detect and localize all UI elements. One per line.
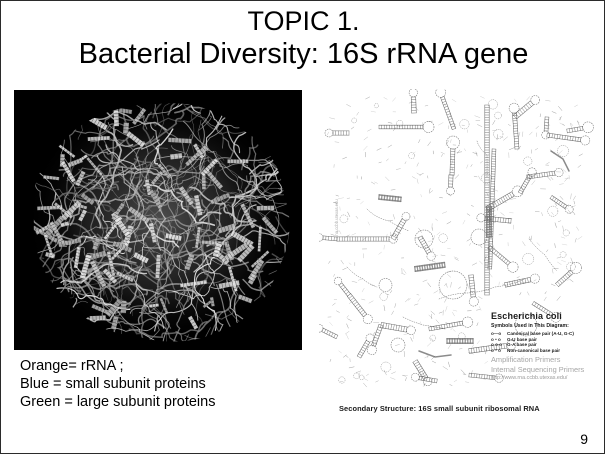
symbol-label: Non-canonical base pair — [507, 348, 560, 354]
structure-primer-key: Amplification Primers Internal Sequencin… — [491, 355, 584, 374]
ribosome-structure-image — [14, 90, 302, 350]
symbol-row: o * o Non-canonical base pair — [491, 348, 574, 354]
structure-side-note: rna.ccbb.utexas.edu — [334, 199, 339, 237]
primer-amplification-label: Amplification Primers — [491, 355, 584, 365]
color-key-line-orange: Orange= rRNA ; — [20, 357, 300, 375]
primer-sequencing-label: Internal Sequencing Primers — [491, 365, 584, 375]
slide-title: TOPIC 1. Bacterial Diversity: 16S rRNA g… — [1, 5, 605, 72]
color-key-line-green: Green = large subunit proteins — [20, 393, 300, 411]
structure-symbol-list: o—o Canonical base pair (A-U, G-C) o • o… — [491, 331, 574, 353]
structure-figure-caption: Secondary Structure: 16S small subunit r… — [339, 404, 601, 413]
structure-organism-name: Escherichia coli — [491, 311, 562, 321]
title-line-primary: TOPIC 1. — [1, 5, 605, 37]
color-key-caption: Orange= rRNA ; Blue = small subunit prot… — [20, 357, 300, 411]
ribosome-ribbon-svg — [14, 90, 302, 350]
color-key-line-blue: Blue = small subunit proteins — [20, 375, 300, 393]
slide-canvas: TOPIC 1. Bacterial Diversity: 16S rRNA g… — [0, 0, 605, 454]
structure-source-url: http://www.rna.ccbb.utexas.edu/ — [491, 375, 567, 381]
page-number: 9 — [580, 431, 588, 447]
title-line-secondary: Bacterial Diversity: 16S rRNA gene — [1, 37, 605, 72]
structure-symbols-title: Symbols Used in This Diagram: — [491, 323, 569, 329]
symbol-key: o * o — [491, 348, 507, 354]
